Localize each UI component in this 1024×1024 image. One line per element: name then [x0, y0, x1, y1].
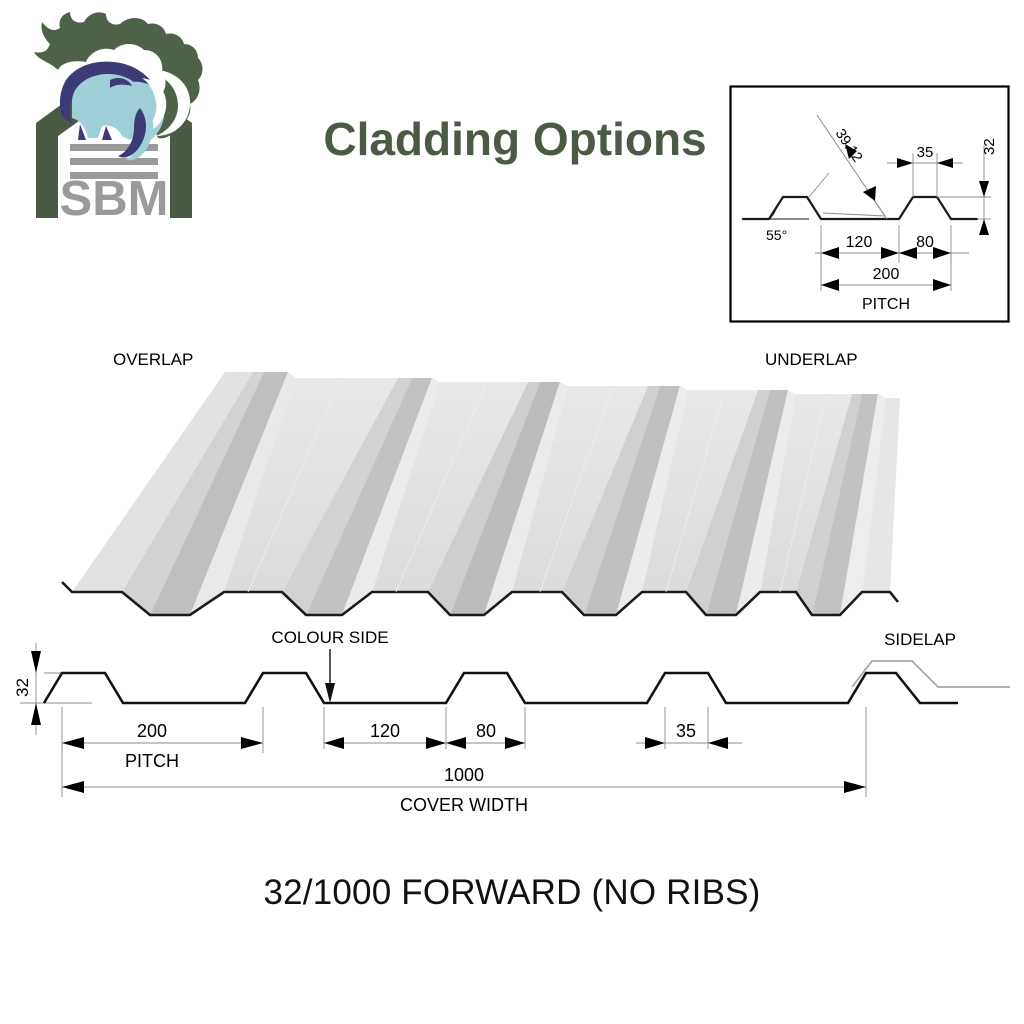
section-pitch-value: 200 [137, 721, 167, 741]
mammoth-over-barn-logo-icon: SBM [14, 8, 219, 223]
detail-diagram-box: 55° 39.12 35 [729, 85, 1010, 323]
colour-side-label: COLOUR SIDE [271, 628, 388, 647]
rib-width-label: 80 [916, 234, 934, 251]
pitch-value-label: 200 [873, 266, 900, 283]
detail-box-border [731, 87, 1009, 322]
underlap-label: UNDERLAP [765, 350, 858, 369]
detail-height-label: 32 [981, 138, 998, 155]
cover-width-value: 1000 [444, 765, 484, 785]
overlap-label: OVERLAP [113, 350, 193, 369]
sidelap-label: SIDELAP [884, 630, 956, 649]
section-flat-value: 120 [370, 721, 400, 741]
section-crown-value: 35 [676, 721, 696, 741]
section-rib-value: 80 [476, 721, 496, 741]
profile-caption: 32/1000 FORWARD (NO RIBS) [0, 873, 1024, 913]
cladding-options-sheet: SBM [0, 0, 1024, 1024]
colour-side-arrow [325, 649, 335, 703]
section-height-label: 32 [13, 678, 32, 697]
panel-surface [72, 372, 900, 615]
sbm-wordmark: SBM [60, 172, 169, 223]
cross-section-view: 32 SIDELAP COLOUR SIDE [0, 625, 1024, 825]
page-title: Cladding Options [300, 116, 730, 162]
flat-width-label: 120 [846, 234, 873, 251]
section-profile-path [44, 673, 958, 703]
pitch-text-label: PITCH [862, 296, 910, 313]
angle-label: 55° [766, 227, 787, 243]
crown-width-label: 35 [917, 144, 934, 161]
section-pitch-text: PITCH [125, 751, 179, 771]
cover-width-text: COVER WIDTH [400, 795, 528, 815]
panel-3d-view: OVERLAP UNDERLAP [0, 330, 1024, 630]
sbm-logo: SBM [14, 8, 219, 223]
